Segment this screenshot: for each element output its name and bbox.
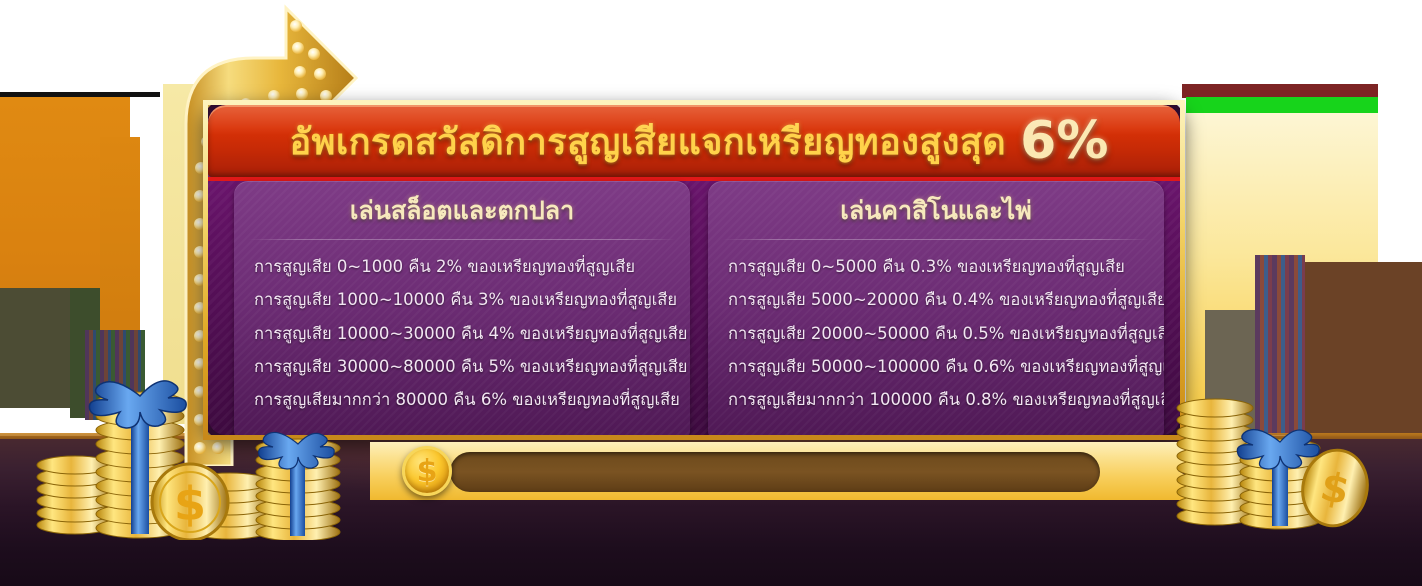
promo-banner: อัพเกรดสวัสดิการสูญเสียแจกเหรียญทองสูงสุ…	[0, 0, 1422, 586]
title-percent-badge: 6%	[1020, 115, 1108, 167]
coin-pile-right: $	[1175, 330, 1375, 530]
background-top-rule	[0, 92, 160, 97]
list-item: การสูญเสียมากกว่า 100000 คืน 0.8% ของเหร…	[724, 383, 1148, 416]
bottom-ribbon-bar[interactable]: $	[370, 442, 1230, 500]
background-strip-darkred	[1182, 84, 1378, 98]
page-title: อัพเกรดสวัสดิการสูญเสียแจกเหรียญทองสูงสุ…	[290, 113, 1007, 170]
list-item: การสูญเสีย 1000~10000 คืน 3% ของเหรียญทอ…	[250, 283, 674, 316]
coin-pile-left: $	[30, 360, 360, 540]
list-item: การสูญเสีย 50000~100000 คืน 0.6% ของเหรี…	[724, 350, 1148, 383]
panel-casino-cards-header: เล่นคาสิโนและไพ่	[708, 191, 1164, 239]
title-bar: อัพเกรดสวัสดิการสูญเสียแจกเหรียญทองสูงสุ…	[208, 105, 1180, 177]
list-item: การสูญเสีย 20000~50000 คืน 0.5% ของเหรีย…	[724, 317, 1148, 350]
panel-divider	[248, 239, 676, 240]
list-item: การสูญเสีย 10000~30000 คืน 4% ของเหรียญท…	[250, 317, 674, 350]
list-item: การสูญเสีย 5000~20000 คืน 0.4% ของเหรียญ…	[724, 283, 1148, 316]
panel-divider	[722, 239, 1150, 240]
list-item: การสูญเสีย 0~5000 คืน 0.3% ของเหรียญทองท…	[724, 250, 1148, 283]
svg-text:$: $	[174, 477, 206, 531]
panel-slots-fishing-header: เล่นสล็อตและตกปลา	[234, 191, 690, 239]
list-item: การสูญเสีย 0~1000 คืน 2% ของเหรียญทองที่…	[250, 250, 674, 283]
dollar-coin-icon: $	[402, 446, 452, 496]
panel-casino-cards-rows: การสูญเสีย 0~5000 คืน 0.3% ของเหรียญทองท…	[708, 250, 1164, 417]
panel-casino-cards: เล่นคาสิโนและไพ่ การสูญเสีย 0~5000 คืน 0…	[708, 181, 1164, 435]
ribbon-text-slot[interactable]	[450, 452, 1100, 492]
